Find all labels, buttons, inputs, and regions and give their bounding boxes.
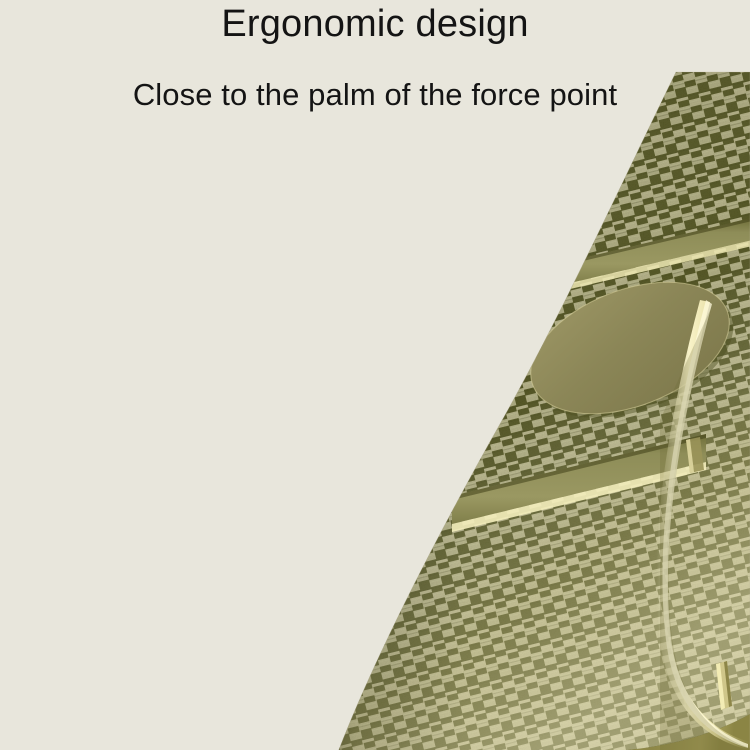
- page-subtitle: Close to the palm of the force point: [0, 76, 750, 114]
- product-banner: Ergonomic design Close to the palm of th…: [0, 0, 750, 750]
- page-title: Ergonomic design: [0, 2, 750, 46]
